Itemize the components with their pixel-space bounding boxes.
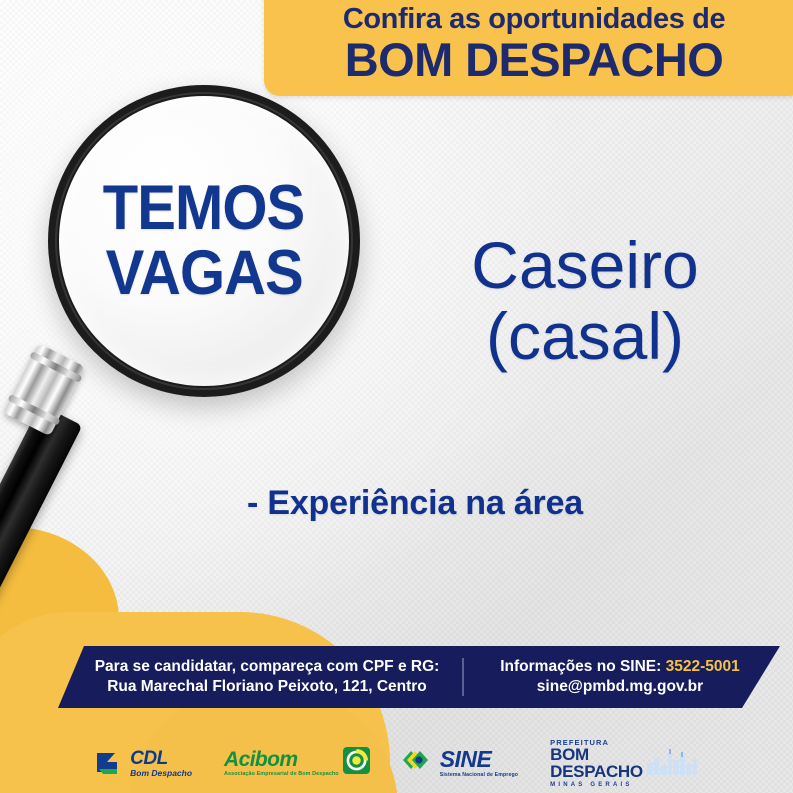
vagas-text: VAGAS <box>105 244 302 303</box>
banner-subtitle: Confira as oportunidades de <box>284 4 784 34</box>
acibom-text-block: Acibom Associação Empresarial de Bom Des… <box>224 749 339 777</box>
prefeitura-name-block: BOM DESPACHO <box>550 747 643 779</box>
job-title-line2: (casal) <box>400 301 770 372</box>
cdl-name: CDL <box>130 749 192 768</box>
magnifier-text-block: TEMOS VAGAS <box>48 85 360 397</box>
contact-bar: Para se candidatar, compareça com CPF e … <box>58 646 780 708</box>
prefeitura-line2: DESPACHO <box>550 764 643 780</box>
contact-address-block: Para se candidatar, compareça com CPF e … <box>58 657 462 698</box>
job-title-line1: Caseiro <box>471 228 698 302</box>
contact-info-block: Informações no SINE: 3522-5001 sine@pmbd… <box>464 657 776 698</box>
city-skyline-icon <box>646 749 698 780</box>
logo-prefeitura: PREFEITURA BOM DESPACHO <box>550 738 698 787</box>
contact-phone-label: Informações no SINE: <box>500 658 661 675</box>
cdl-text-block: CDL Bom Despacho <box>130 749 192 778</box>
temos-text: TEMOS <box>103 179 304 238</box>
magnifying-glass-graphic: TEMOS VAGAS <box>30 85 390 705</box>
partner-logo-strip: CDL Bom Despacho Acibom Associação Empre… <box>0 733 793 793</box>
contact-instruction: Para se candidatar, compareça com CPF e … <box>72 657 462 677</box>
cdl-subtitle: Bom Despacho <box>130 769 192 778</box>
acibom-subtitle: Associação Empresarial de Bom Despacho <box>224 772 339 777</box>
sine-text-block: SINE Sistema Nacional de Emprego <box>440 748 518 778</box>
sine-subtitle: Sistema Nacional de Emprego <box>440 773 518 778</box>
job-title: Caseiro (casal) <box>400 230 770 373</box>
prefeitura-state: MINAS GERAIS <box>550 782 632 788</box>
logo-cdl: CDL Bom Despacho <box>95 743 192 783</box>
sine-name: SINE <box>440 748 518 771</box>
acibom-name: Acibom <box>224 749 339 770</box>
contact-phone-line: Informações no SINE: 3522-5001 <box>464 657 776 677</box>
logo-sine: SINE Sistema Nacional de Emprego <box>402 743 518 783</box>
banner-title: BOM DESPACHO <box>284 36 784 84</box>
prefeitura-main-row: BOM DESPACHO <box>550 747 698 779</box>
contact-address: Rua Marechal Floriano Peixoto, 121, Cent… <box>72 677 462 697</box>
job-vacancy-poster: TEMOS VAGAS Confira as oportunidades de … <box>0 0 793 793</box>
logo-acibom: Acibom Associação Empresarial de Bom Des… <box>224 743 370 783</box>
header-banner: Confira as oportunidades de BOM DESPACHO <box>264 0 793 96</box>
job-requirement: - Experiência na área <box>180 484 650 523</box>
contact-email[interactable]: sine@pmbd.mg.gov.br <box>464 677 776 697</box>
contact-phone-number[interactable]: 3522-5001 <box>666 658 740 675</box>
cdl-mark-icon <box>95 750 125 777</box>
sine-mark-icon <box>402 748 436 778</box>
acibom-mark-icon <box>343 747 370 779</box>
